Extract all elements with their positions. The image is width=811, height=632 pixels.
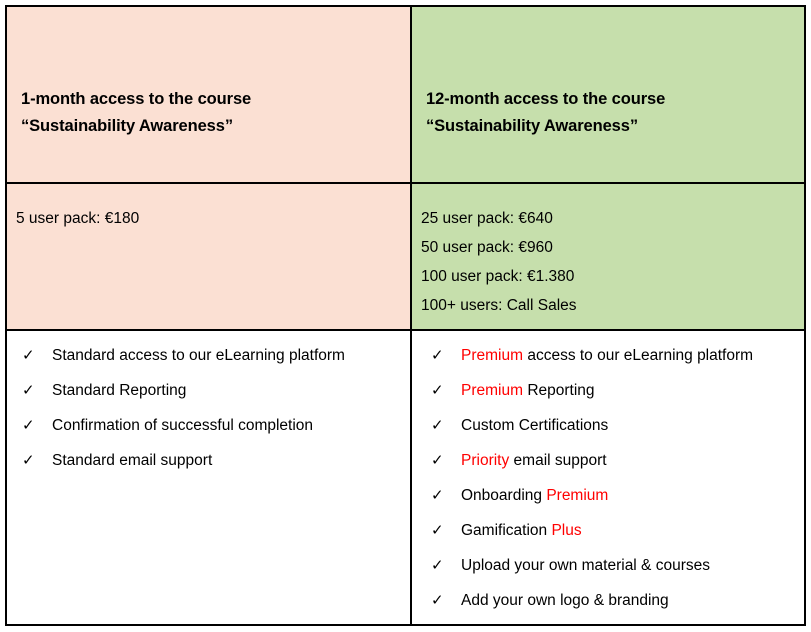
feature-label: Premium access to our eLearning platform	[461, 344, 753, 368]
price-cell-one-month: 5 user pack: €180	[7, 184, 410, 329]
plan-title-twelve-month: 12-month access to the course “Sustainab…	[426, 86, 794, 140]
feature-text-span: Standard email support	[52, 452, 212, 469]
check-icon: ✓	[22, 414, 36, 438]
feature-label: Confirmation of successful completion	[52, 414, 313, 438]
feature-label: Upload your own material & courses	[461, 554, 710, 578]
feature-item: ✓Custom Certifications	[412, 414, 804, 449]
feature-item: ✓Priority email support	[412, 449, 804, 484]
table-header-row: 1-month access to the course “Sustainabi…	[7, 7, 804, 182]
feature-highlight: Premium	[461, 347, 523, 364]
check-icon: ✓	[22, 449, 36, 473]
price-line: 5 user pack: €180	[16, 204, 410, 233]
feature-highlight: Plus	[551, 522, 581, 539]
check-icon: ✓	[431, 379, 445, 403]
features-cell-twelve-month: ✓Premium access to our eLearning platfor…	[410, 331, 804, 624]
plan-title-line-1: 12-month access to the course	[426, 86, 794, 113]
feature-item: ✓Gamification Plus	[412, 519, 804, 554]
plan-title-line-1: 1-month access to the course	[21, 86, 400, 113]
feature-highlight: Premium	[461, 382, 523, 399]
table-price-row: 5 user pack: €180 25 user pack: €64050 u…	[7, 182, 804, 329]
table-features-row: ✓Standard access to our eLearning platfo…	[7, 329, 804, 624]
feature-item: ✓Upload your own material & courses	[412, 554, 804, 589]
feature-item: ✓Premium access to our eLearning platfor…	[412, 344, 804, 379]
feature-text-span: Standard Reporting	[52, 382, 186, 399]
check-icon: ✓	[22, 344, 36, 368]
price-list-twelve-month: 25 user pack: €64050 user pack: €960100 …	[412, 184, 804, 320]
feature-label: Custom Certifications	[461, 414, 608, 438]
price-line: 100 user pack: €1.380	[421, 262, 804, 291]
feature-text-span: Custom Certifications	[461, 417, 608, 434]
feature-item: ✓Premium Reporting	[412, 379, 804, 414]
feature-label: Standard Reporting	[52, 379, 186, 403]
plan-title-line-2: “Sustainability Awareness”	[21, 113, 400, 140]
check-icon: ✓	[22, 379, 36, 403]
feature-list-twelve-month: ✓Premium access to our eLearning platfor…	[412, 331, 804, 624]
check-icon: ✓	[431, 344, 445, 368]
feature-label: Standard access to our eLearning platfor…	[52, 344, 345, 368]
plan-title-line-2: “Sustainability Awareness”	[426, 113, 794, 140]
price-list-one-month: 5 user pack: €180	[7, 184, 410, 233]
price-line: 100+ users: Call Sales	[421, 291, 804, 320]
feature-text-span: Confirmation of successful completion	[52, 417, 313, 434]
plan-header-one-month: 1-month access to the course “Sustainabi…	[7, 7, 410, 182]
feature-text-span: Standard access to our eLearning platfor…	[52, 347, 345, 364]
check-icon: ✓	[431, 449, 445, 473]
check-icon: ✓	[431, 414, 445, 438]
feature-label: Priority email support	[461, 449, 607, 473]
check-icon: ✓	[431, 554, 445, 578]
feature-text-span: Gamification	[461, 522, 551, 539]
plan-title-one-month: 1-month access to the course “Sustainabi…	[21, 86, 400, 140]
feature-label: Gamification Plus	[461, 519, 582, 543]
feature-label: Standard email support	[52, 449, 212, 473]
feature-list-one-month: ✓Standard access to our eLearning platfo…	[7, 331, 410, 484]
feature-text-span: Upload your own material & courses	[461, 557, 710, 574]
feature-item: ✓Onboarding Premium	[412, 484, 804, 519]
features-cell-one-month: ✓Standard access to our eLearning platfo…	[7, 331, 410, 624]
feature-item: ✓Add your own logo & branding	[412, 589, 804, 624]
feature-text-span: Onboarding	[461, 487, 546, 504]
feature-highlight: Priority	[461, 452, 509, 469]
feature-item: ✓Standard access to our eLearning platfo…	[7, 344, 410, 379]
pricing-comparison-table: 1-month access to the course “Sustainabi…	[5, 5, 806, 626]
price-line: 25 user pack: €640	[421, 204, 804, 233]
feature-highlight: Premium	[546, 487, 608, 504]
feature-text-span: access to our eLearning platform	[523, 347, 753, 364]
feature-label: Onboarding Premium	[461, 484, 608, 508]
feature-label: Premium Reporting	[461, 379, 595, 403]
feature-text-span: email support	[509, 452, 606, 469]
price-cell-twelve-month: 25 user pack: €64050 user pack: €960100 …	[410, 184, 804, 329]
feature-label: Add your own logo & branding	[461, 589, 669, 613]
feature-text-span: Add your own logo & branding	[461, 592, 669, 609]
feature-item: ✓Standard email support	[7, 449, 410, 484]
check-icon: ✓	[431, 519, 445, 543]
check-icon: ✓	[431, 589, 445, 613]
feature-item: ✓Standard Reporting	[7, 379, 410, 414]
feature-item: ✓Confirmation of successful completion	[7, 414, 410, 449]
plan-header-twelve-month: 12-month access to the course “Sustainab…	[410, 7, 804, 182]
price-line: 50 user pack: €960	[421, 233, 804, 262]
feature-text-span: Reporting	[523, 382, 595, 399]
check-icon: ✓	[431, 484, 445, 508]
